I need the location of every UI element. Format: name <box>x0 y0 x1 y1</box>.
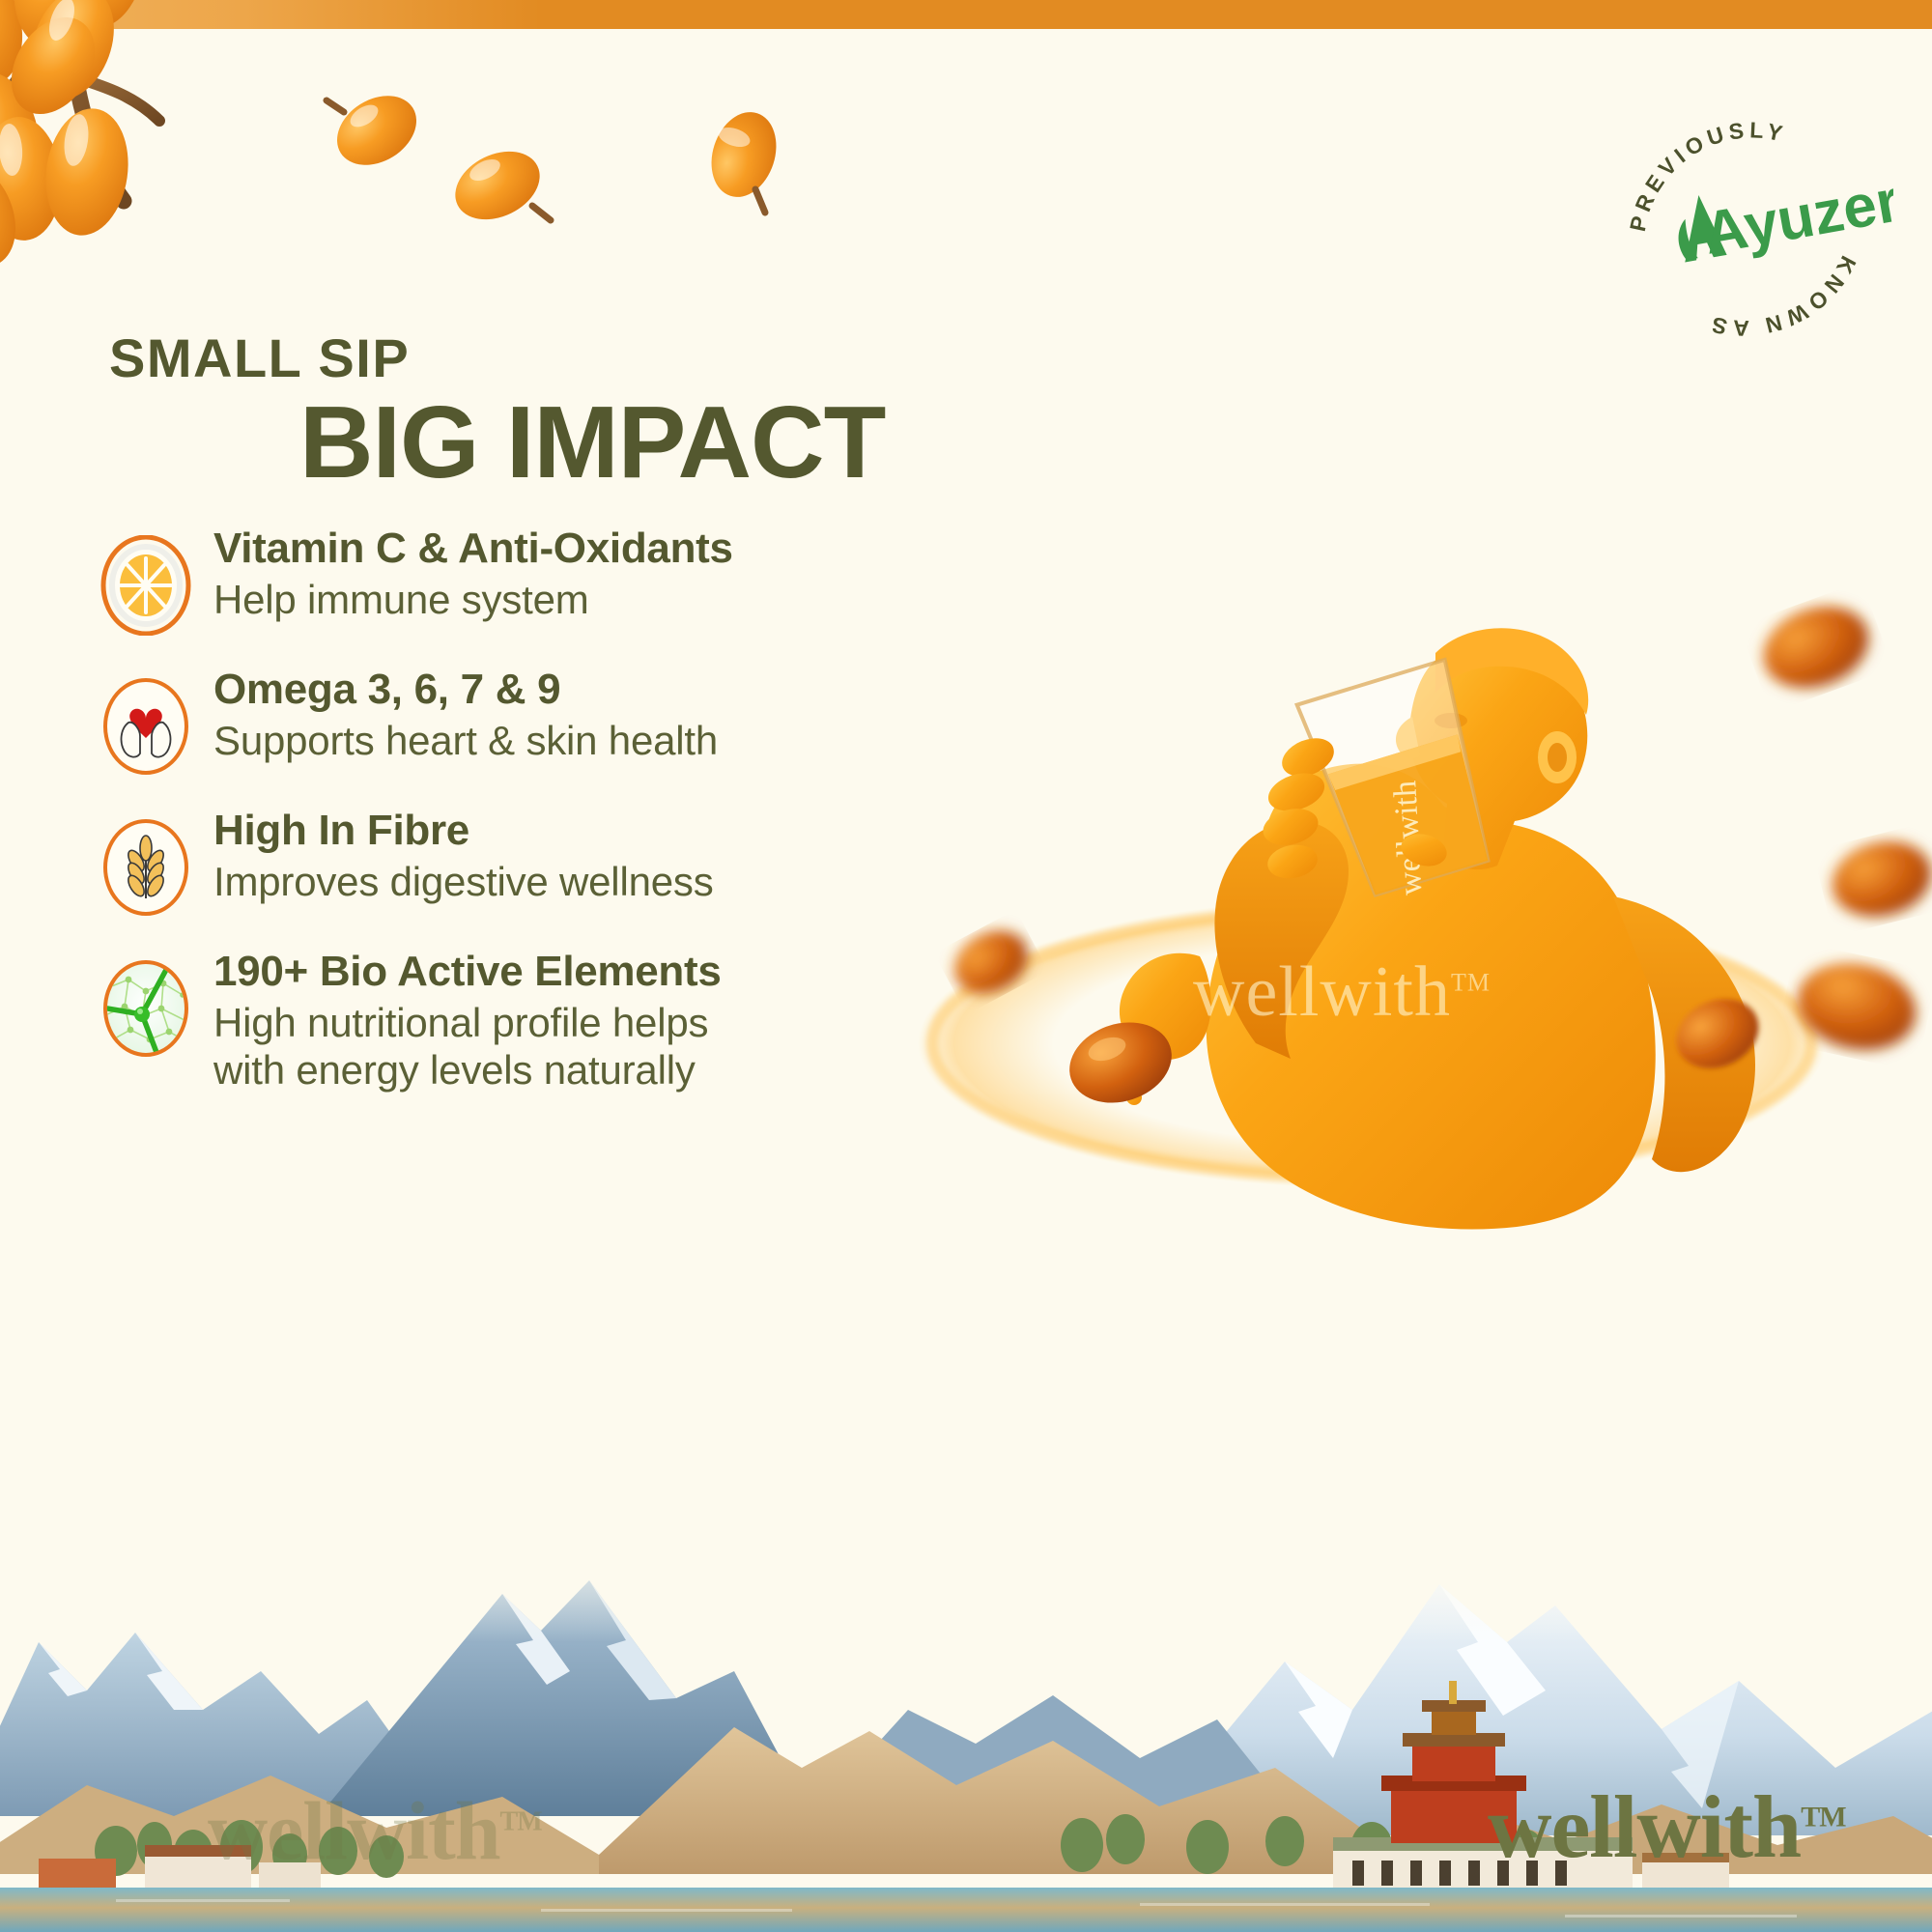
scattered-sea-buckthorn-berries-icon <box>319 77 918 280</box>
svg-text:KNOWN AS: KNOWN AS <box>1705 252 1861 341</box>
badge-bottom-arc-text: KNOWN AS <box>1705 252 1861 341</box>
heart-in-hands-icon <box>99 676 192 777</box>
page-title: BIG IMPACT <box>299 384 885 501</box>
liquid-man-drinking-juice-image: wellwith <box>802 367 1932 1333</box>
wheat-stalk-icon <box>99 817 192 918</box>
eyebrow-heading: SMALL SIP <box>109 327 410 389</box>
orange-slice-icon <box>99 535 192 636</box>
badge-brand-name: Ayuzera <box>1698 161 1893 268</box>
previously-known-as-badge: PREVIOUSLY KNOWN AS Ayuzera <box>1604 72 1893 362</box>
molecular-network-icon <box>99 958 192 1059</box>
himalayan-mountain-lake-image <box>0 1526 1932 1932</box>
